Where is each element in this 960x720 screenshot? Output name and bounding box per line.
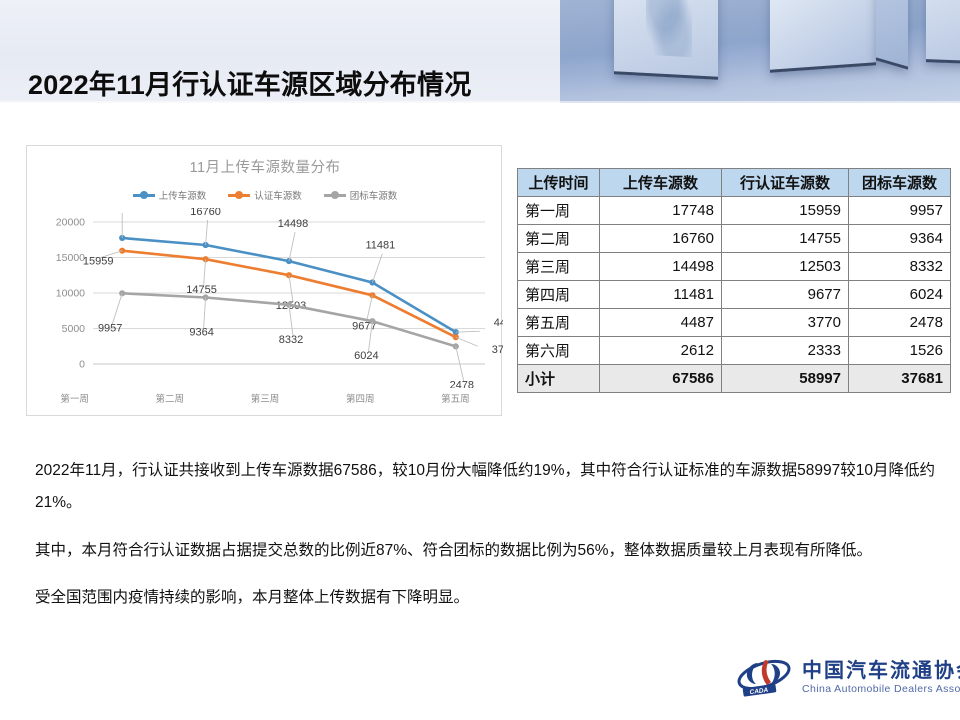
body-paragraph-1: 2022年11月，行认证共接收到上传车源数据67586，较10月份大幅降低约19… — [35, 455, 935, 519]
table-cell: 2612 — [600, 337, 722, 365]
table-cell: 9677 — [722, 281, 849, 309]
table-total-cell: 小计 — [518, 365, 600, 393]
table-header-row: 上传时间上传车源数行认证车源数团标车源数 — [518, 169, 951, 197]
table-cell: 6024 — [849, 281, 951, 309]
legend-swatch-upload — [133, 194, 155, 197]
data-label: 17748 — [105, 208, 136, 211]
x-axis-tick-5: 第五周 — [408, 391, 503, 405]
table-cell: 14755 — [722, 225, 849, 253]
table-total-row: 小计675865899737681 — [518, 365, 951, 393]
table-total-cell: 37681 — [849, 365, 951, 393]
chart-title: 11月上传车源数量分布 — [27, 156, 503, 177]
data-label: 6024 — [354, 350, 378, 362]
label-leader — [366, 295, 372, 322]
logo-text-block: 中国汽车流通协会 China Automobile Dealers Associ… — [802, 661, 960, 695]
logo-name-en: China Automobile Dealers Association — [802, 684, 960, 695]
table-cell: 12503 — [722, 253, 849, 281]
table-cell: 第二周 — [518, 225, 600, 253]
y-axis-tick-3: 15000 — [56, 252, 85, 264]
table-cell: 2478 — [849, 309, 951, 337]
chart-plot: 0500010000150002000017748167601449811481… — [27, 208, 503, 388]
legend-item-certified: 认证车源数 — [228, 188, 302, 202]
x-axis-tick-2: 第二周 — [122, 391, 217, 405]
label-leader — [456, 337, 478, 346]
label-leader — [204, 298, 206, 329]
table-row: 第三周14498125038332 — [518, 253, 951, 281]
y-axis-tick-4: 20000 — [56, 217, 85, 229]
series-line-0 — [122, 238, 456, 332]
table-col-header-3: 团标车源数 — [849, 169, 951, 197]
table-row: 第四周1148196776024 — [518, 281, 951, 309]
label-leader — [206, 220, 208, 245]
label-leader — [289, 232, 295, 261]
table-cell: 3770 — [722, 309, 849, 337]
y-axis-tick-1: 5000 — [62, 323, 86, 335]
chart-x-axis: 第一周第二周第三周第四周第五周 — [27, 391, 503, 405]
table-total-cell: 67586 — [600, 365, 722, 393]
table-row: 第二周16760147559364 — [518, 225, 951, 253]
data-label: 2478 — [450, 379, 474, 388]
body-paragraph-2: 其中，本月符合行认证数据占据提交总数的比例近87%、符合团标的数据比例为56%，… — [35, 535, 935, 567]
legend-item-groupstandard: 团标车源数 — [324, 188, 398, 202]
table-cell: 9957 — [849, 197, 951, 225]
data-label: 11481 — [366, 239, 396, 251]
legend-label-upload: 上传车源数 — [159, 188, 207, 202]
table-cell: 11481 — [600, 281, 722, 309]
y-axis-tick-0: 0 — [79, 359, 85, 371]
table-cell: 第一周 — [518, 197, 600, 225]
data-label: 15959 — [83, 256, 114, 268]
legend-swatch-groupstandard — [324, 194, 346, 197]
data-label: 9364 — [189, 327, 213, 339]
legend-item-upload: 上传车源数 — [133, 188, 207, 202]
world-map-texture-icon — [646, 0, 692, 57]
x-axis-tick-3: 第三周 — [217, 391, 312, 405]
table-cell: 第六周 — [518, 337, 600, 365]
table-row: 第五周448737702478 — [518, 309, 951, 337]
table-cell: 第五周 — [518, 309, 600, 337]
legend-swatch-certified — [228, 194, 250, 197]
data-label: 4487 — [494, 317, 503, 329]
table-header: 上传时间上传车源数行认证车源数团标车源数 — [518, 169, 951, 197]
logo-name-cn: 中国汽车流通协会 — [802, 661, 960, 682]
header-cube-icon — [926, 0, 960, 64]
table-cell: 第四周 — [518, 281, 600, 309]
label-leader — [112, 293, 122, 324]
table-cell: 8332 — [849, 253, 951, 281]
table-cell: 4487 — [600, 309, 722, 337]
page-title: 2022年11月行认证车源区域分布情况 — [28, 63, 471, 102]
x-axis-tick-4: 第四周 — [313, 391, 408, 405]
label-leader — [289, 275, 293, 302]
body-paragraph-3: 受全国范围内疫情持续的影响，本月整体上传数据有下降明显。 — [35, 582, 935, 614]
cada-emblem-icon: CADA — [736, 655, 794, 701]
table-col-header-0: 上传时间 — [518, 169, 600, 197]
data-point — [453, 343, 459, 349]
table-cell: 2333 — [722, 337, 849, 365]
label-leader — [456, 331, 480, 332]
y-axis-tick-2: 10000 — [56, 288, 85, 300]
table-col-header-1: 上传车源数 — [600, 169, 722, 197]
chart-legend: 上传车源数 认证车源数 团标车源数 — [27, 188, 503, 202]
data-label: 9957 — [98, 322, 122, 334]
table-cell: 14498 — [600, 253, 722, 281]
data-label: 14498 — [278, 218, 309, 230]
table-cell: 第三周 — [518, 253, 600, 281]
table-col-header-2: 行认证车源数 — [722, 169, 849, 197]
table-cell: 16760 — [600, 225, 722, 253]
data-label: 8332 — [279, 334, 303, 346]
footer-logo: CADA 中国汽车流通协会 China Automobile Dealers A… — [736, 652, 950, 704]
chart-card: 11月上传车源数量分布 上传车源数 认证车源数 团标车源数 0500010000… — [26, 145, 502, 416]
data-table: 上传时间上传车源数行认证车源数团标车源数 第一周17748159599957第二… — [517, 168, 951, 393]
body-text: 2022年11月，行认证共接收到上传车源数据67586，较10月份大幅降低约19… — [35, 455, 935, 630]
chart-svg: 0500010000150002000017748167601449811481… — [27, 208, 503, 388]
data-label: 3770 — [492, 344, 503, 356]
header-cube-side-icon — [876, 0, 908, 70]
table-cell: 9364 — [849, 225, 951, 253]
data-label: 14755 — [186, 284, 217, 296]
table-cell: 17748 — [600, 197, 722, 225]
legend-label-certified: 认证车源数 — [254, 188, 302, 202]
table-cell: 15959 — [722, 197, 849, 225]
table-body: 第一周17748159599957第二周16760147559364第三周144… — [518, 197, 951, 393]
table-cell: 1526 — [849, 337, 951, 365]
data-label: 16760 — [190, 208, 221, 218]
table-row: 第六周261223331526 — [518, 337, 951, 365]
x-axis-tick-1: 第一周 — [27, 391, 122, 405]
table-total-cell: 58997 — [722, 365, 849, 393]
table-row: 第一周17748159599957 — [518, 197, 951, 225]
label-leader — [204, 259, 206, 286]
legend-label-groupstandard: 团标车源数 — [350, 188, 398, 202]
header-cube-icon — [770, 0, 876, 73]
